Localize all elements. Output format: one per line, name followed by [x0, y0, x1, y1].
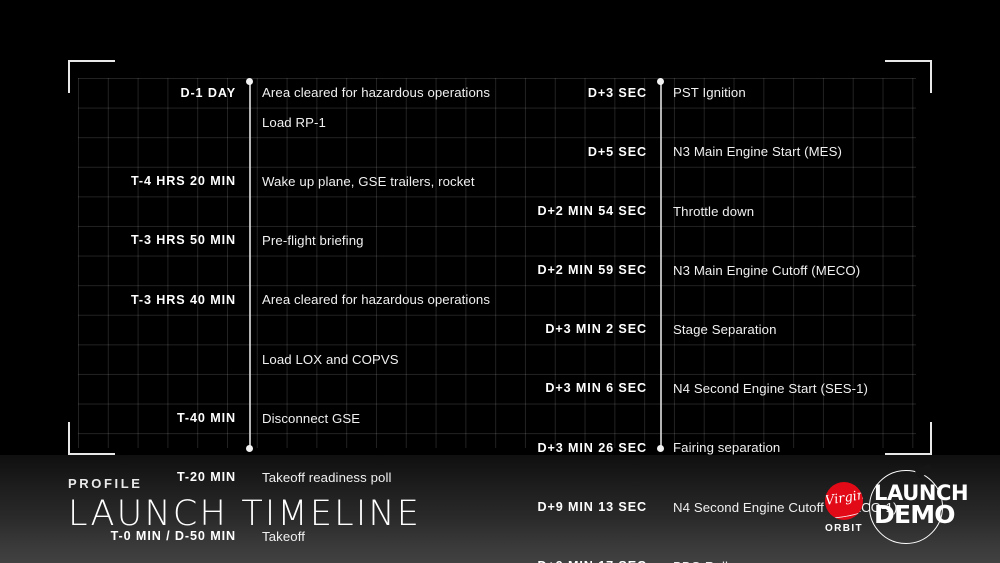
timeline-row: [500, 404, 918, 434]
timeline-row-time: D+3 MIN 26 SEC: [500, 442, 660, 455]
timeline-row: D-1 DAYArea cleared for hazardous operat…: [78, 78, 496, 108]
bracket-vertical: [930, 422, 932, 455]
timeline-row-event: Area cleared for hazardous operations: [249, 293, 496, 306]
bracket-vertical: [68, 422, 70, 455]
timeline-row: [78, 552, 496, 563]
timeline-row-event: Throttle down: [660, 205, 918, 218]
timeline-row-event: N3 Main Engine Start (MES): [660, 145, 918, 158]
timeline-row-time: D+3 MIN 6 SEC: [500, 382, 660, 395]
timeline-row: T-40 MINDisconnect GSE: [78, 404, 496, 434]
timeline-row: D+3 SECPST Ignition: [500, 78, 918, 108]
timeline-row-event: N3 Main Engine Cutoff (MECO): [660, 264, 918, 277]
page-title: LAUNCH TIMELINE: [68, 497, 421, 532]
timeline-row-time: D+2 MIN 54 SEC: [500, 205, 660, 218]
timeline-row-event: Load RP-1: [249, 116, 496, 129]
timeline-row: D+3 MIN 2 SECStage Separation: [500, 315, 918, 345]
timeline-row: [78, 137, 496, 167]
timeline-row-event: Area cleared for hazardous operations: [249, 86, 496, 99]
timeline-row: D+2 MIN 59 SECN3 Main Engine Cutoff (MEC…: [500, 256, 918, 286]
timeline-row-time: D+2 MIN 59 SEC: [500, 264, 660, 277]
bracket-horizontal: [885, 60, 932, 62]
timeline-row-event: Pre-flight briefing: [249, 234, 496, 247]
timeline-row: [500, 167, 918, 197]
timeline-row-time: D-1 DAY: [78, 87, 249, 100]
launch-demo-wordmark: LAUNCH DEMO: [874, 484, 968, 526]
timeline-row-event: Disconnect GSE: [249, 412, 496, 425]
timeline-row: T-3 HRS 50 MINPre-flight briefing: [78, 226, 496, 256]
timeline-row: [78, 256, 496, 286]
timeline-row: D+9 MIN 17 SECBBQ Roll: [500, 552, 918, 563]
bracket-vertical: [68, 60, 70, 93]
virgin-roundel-icon: Virgin: [825, 482, 863, 520]
timeline-row-event: Load LOX and COPVS: [249, 353, 496, 366]
timeline-row-time: T-3 HRS 40 MIN: [78, 294, 249, 307]
footer: PROFILE LAUNCH TIMELINE: [68, 477, 421, 532]
timeline-row-event: Fairing separation: [660, 441, 918, 454]
bracket-vertical: [930, 60, 932, 93]
timeline-row: D+3 MIN 26 SECFairing separation: [500, 433, 918, 463]
timeline-row-time: D+3 SEC: [500, 87, 660, 100]
orbit-wordmark: ORBIT: [822, 524, 866, 534]
timeline-row: [78, 315, 496, 345]
timeline-row: [500, 285, 918, 315]
timeline-row-time: T-40 MIN: [78, 412, 249, 425]
timeline-row: [500, 108, 918, 138]
bracket-horizontal: [68, 453, 115, 455]
timeline-row: T-3 HRS 40 MINArea cleared for hazardous…: [78, 285, 496, 315]
timeline-row: [78, 196, 496, 226]
footer-kicker: PROFILE: [68, 477, 421, 490]
timeline-row: [500, 226, 918, 256]
timeline-row-event: N4 Second Engine Start (SES-1): [660, 382, 918, 395]
timeline-row: [500, 344, 918, 374]
timeline-row-time: D+3 MIN 2 SEC: [500, 323, 660, 336]
timeline-row: [78, 374, 496, 404]
timeline-row-time: D+9 MIN 13 SEC: [500, 501, 660, 514]
timeline-row-event: Stage Separation: [660, 323, 918, 336]
timeline-row: D+5 SECN3 Main Engine Start (MES): [500, 137, 918, 167]
timeline-row-time: T-4 HRS 20 MIN: [78, 175, 249, 188]
slide-canvas: D-1 DAYArea cleared for hazardous operat…: [0, 0, 1000, 563]
bracket-horizontal: [68, 60, 115, 62]
timeline-row: Load LOX and COPVS: [78, 344, 496, 374]
timeline-row: Load RP-1: [78, 108, 496, 138]
timeline-row-event: Wake up plane, GSE trailers, rocket: [249, 175, 496, 188]
timeline-row-event: PST Ignition: [660, 86, 918, 99]
launch-demo-logo: Virgin ORBIT LAUNCH DEMO: [820, 466, 980, 548]
logo-line-demo: DEMO: [874, 503, 968, 526]
timeline-row-time: T-3 HRS 50 MIN: [78, 234, 249, 247]
timeline-row: [78, 433, 496, 463]
bracket-horizontal: [885, 453, 932, 455]
timeline-row-time: D+5 SEC: [500, 146, 660, 159]
timeline-row: D+2 MIN 54 SECThrottle down: [500, 196, 918, 226]
timeline-row: T-4 HRS 20 MINWake up plane, GSE trailer…: [78, 167, 496, 197]
timeline-row: D+3 MIN 6 SECN4 Second Engine Start (SES…: [500, 374, 918, 404]
